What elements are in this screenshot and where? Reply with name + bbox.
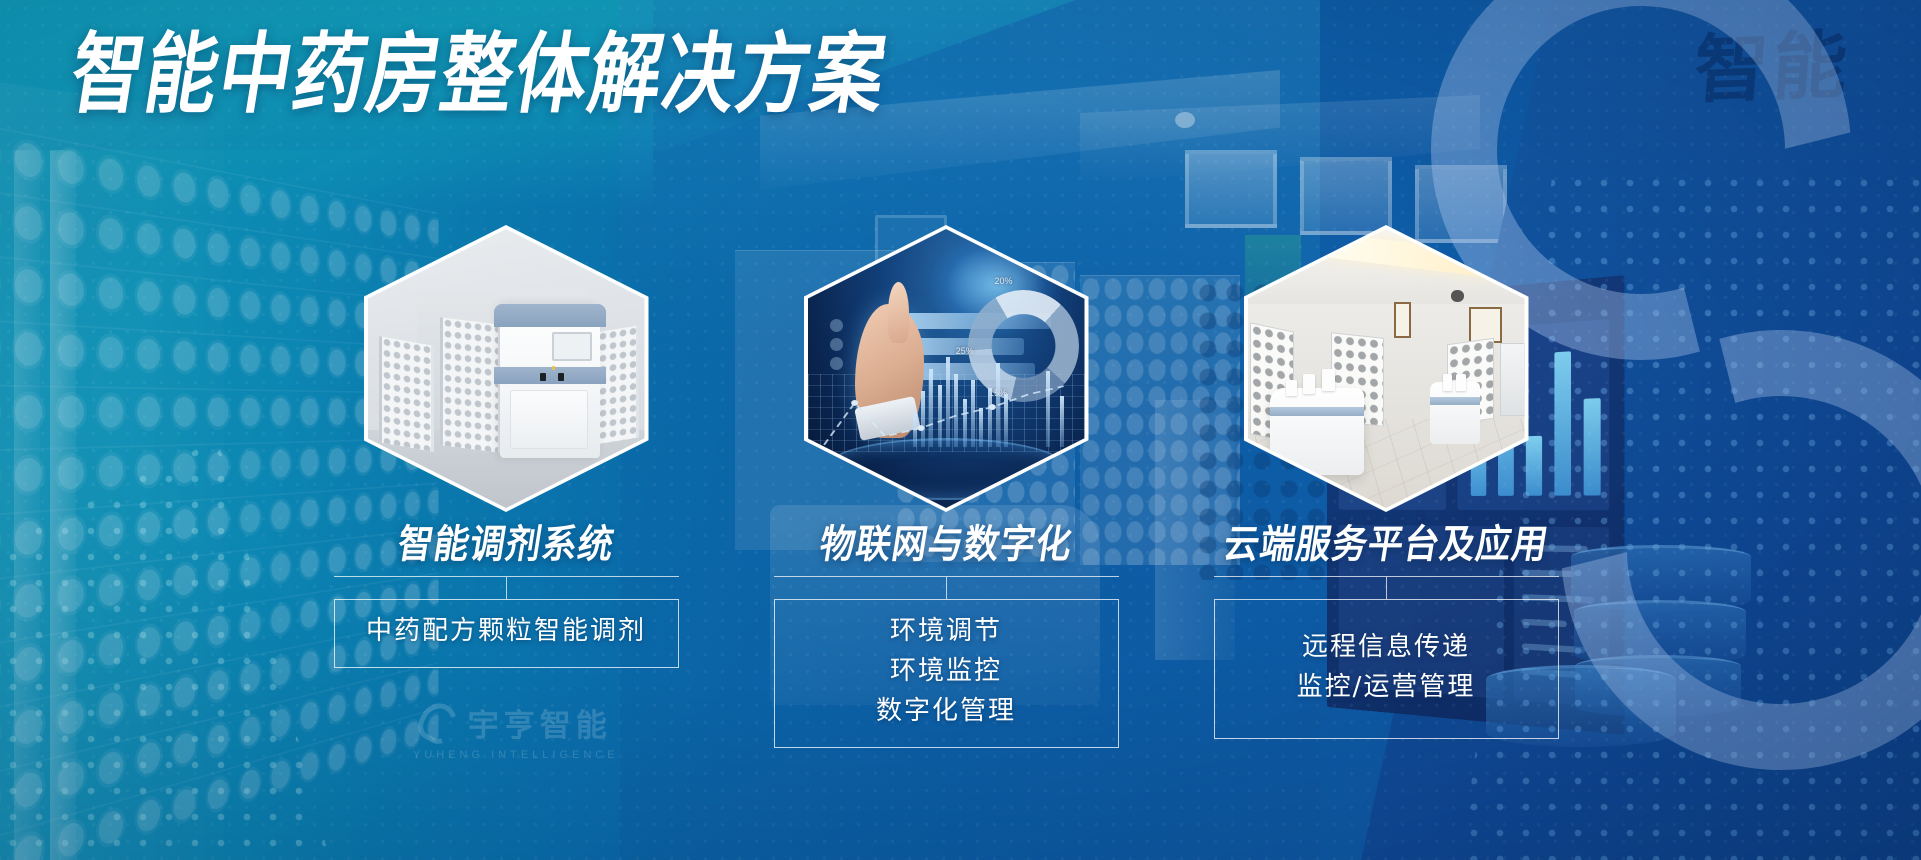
info-line: 环境调节	[890, 617, 1002, 647]
info-line: 环境监控	[890, 657, 1002, 687]
feature-columns: 智能调剂系统 中药配方颗粒智能调剂	[0, 225, 1921, 765]
column-connector-3	[1386, 577, 1387, 599]
hexagon-frame-1[interactable]	[364, 225, 649, 512]
donut-label-20: 20%	[994, 276, 1012, 286]
info-line: 监控/运营管理	[1297, 673, 1476, 703]
column-label-1: 智能调剂系统	[395, 526, 617, 565]
column-label-3: 云端服务平台及应用	[1221, 526, 1551, 565]
feature-column-intelligent-dispensing[interactable]: 智能调剂系统 中药配方颗粒智能调剂	[306, 225, 706, 668]
column-label-2: 物联网与数字化	[817, 526, 1075, 565]
column-connector-1	[506, 577, 507, 599]
hexagon-inner-1	[368, 229, 645, 508]
info-box-2: 环境调节 环境监控 数字化管理	[774, 599, 1119, 748]
pharmacy-interior-image	[1248, 229, 1525, 508]
iot-dashboard-image: 20% 25% 15%	[808, 229, 1085, 508]
info-line: 远程信息传递	[1302, 633, 1470, 663]
page-title: 智能中药房整体解决方案	[65, 30, 893, 118]
hexagon-inner-2: 20% 25% 15%	[808, 229, 1085, 508]
feature-column-cloud-service-platform[interactable]: 云端服务平台及应用 远程信息传递 监控/运营管理	[1186, 225, 1586, 739]
hexagon-frame-2[interactable]: 20% 25% 15%	[804, 225, 1089, 512]
poster-stage: 智能	[0, 0, 1921, 860]
info-line: 中药配方颗粒智能调剂	[366, 617, 646, 647]
hexagon-frame-3[interactable]	[1244, 225, 1529, 512]
feature-column-iot-digitalization[interactable]: 20% 25% 15%	[746, 225, 1146, 748]
donut-label-25: 25%	[956, 346, 974, 356]
info-box-3: 远程信息传递 监控/运营管理	[1214, 599, 1559, 739]
hexagon-inner-3	[1248, 229, 1525, 508]
info-line: 数字化管理	[876, 697, 1016, 727]
column-connector-2	[946, 577, 947, 599]
dispensing-machine-image	[368, 229, 645, 508]
info-box-1: 中药配方颗粒智能调剂	[334, 599, 679, 668]
